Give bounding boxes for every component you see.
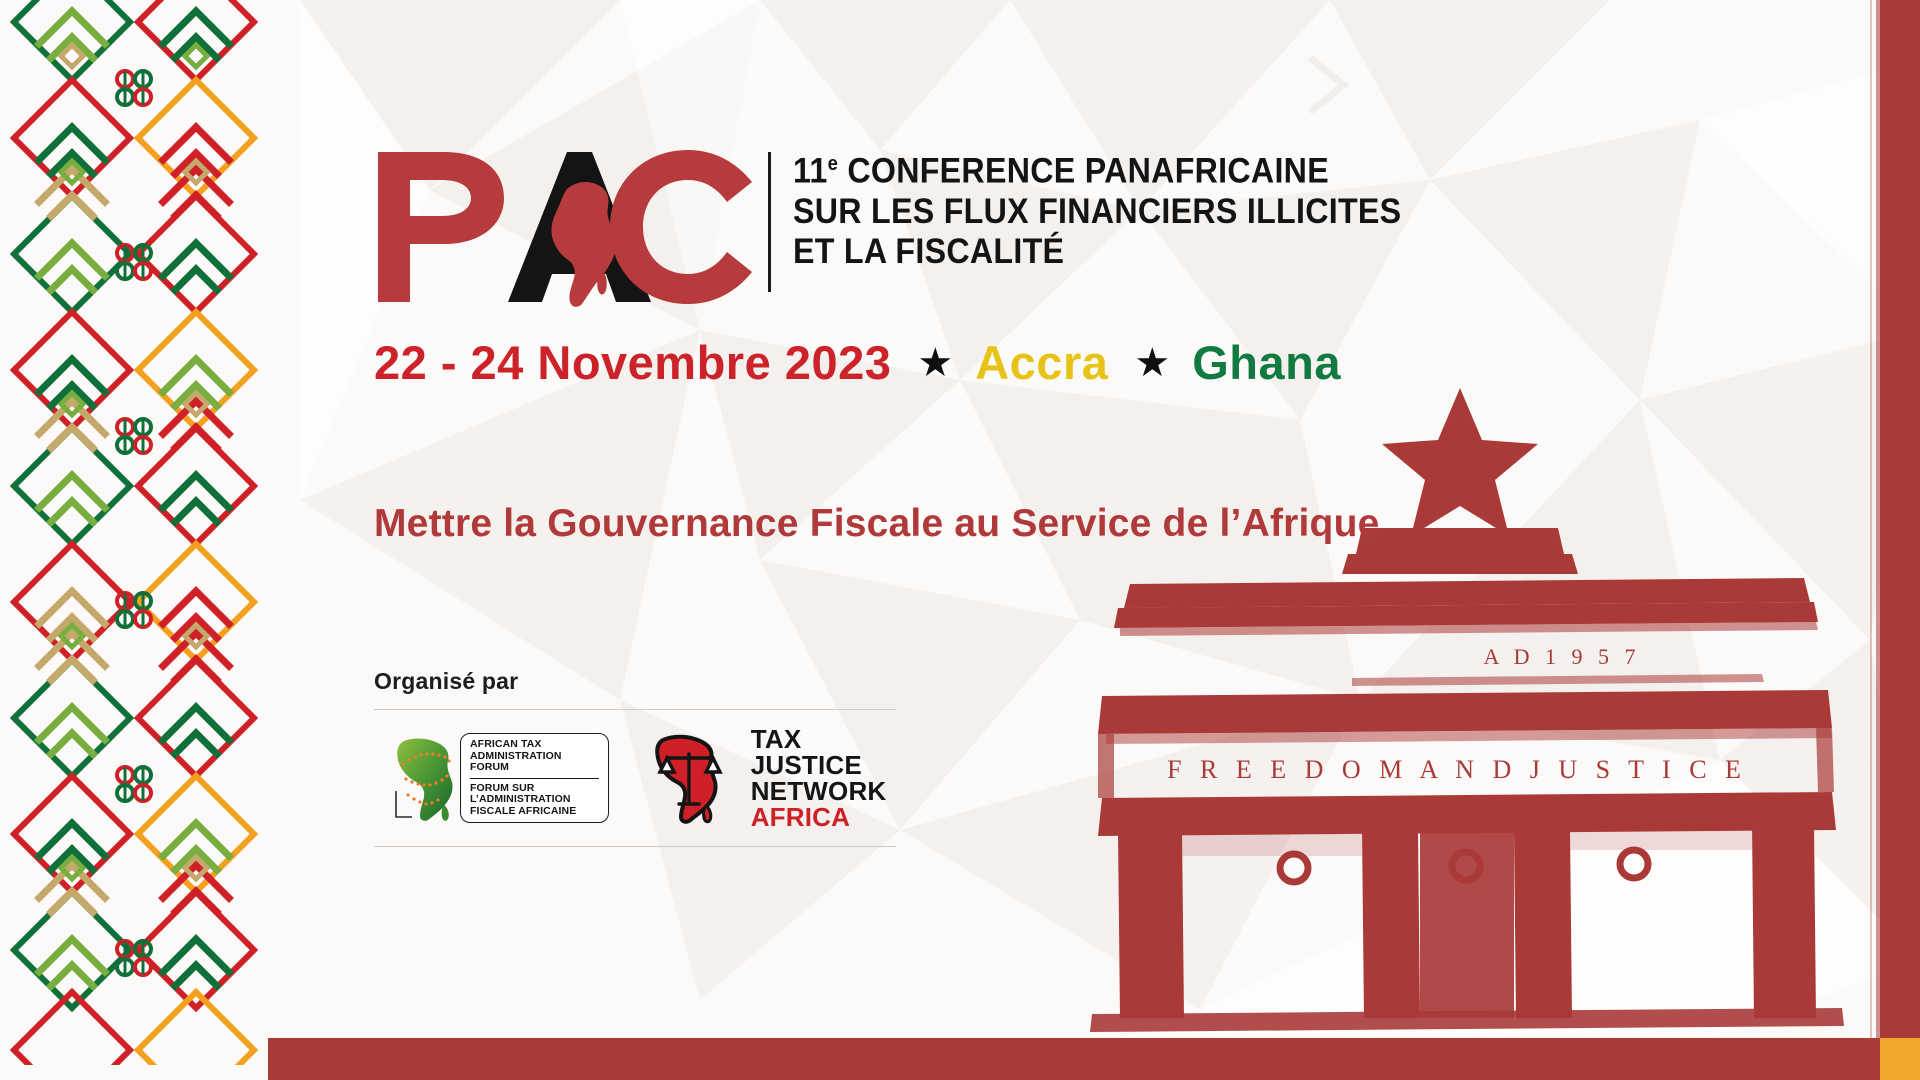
ataf-french-line-2: L’ADMINISTRATION — [470, 794, 599, 806]
conference-title: 11e CONFERENCE PANAFRICAINE SUR LES FLUX… — [793, 144, 1454, 272]
tjna-line-3: AFRICA — [751, 804, 914, 830]
title-line-1-rest: CONFERENCE PANAFRICAINE — [838, 152, 1329, 191]
ataf-english-line-2: ADMINISTRATION FORUM — [470, 751, 599, 774]
ataf-name-divider — [470, 778, 599, 779]
event-city: Accra — [975, 335, 1108, 390]
title-line-3: ET LA FISCALITÉ — [793, 232, 1401, 272]
organisers-divider-bottom — [374, 846, 896, 847]
title-line-1-prefix: 11 — [793, 152, 828, 191]
tjna-logo[interactable]: TAX JUSTICE NETWORK AFRICA — [645, 726, 914, 830]
event-date-location: 22 - 24 Novembre 2023 ★ Accra ★ Ghana — [374, 335, 1341, 390]
star-icon-2: ★ — [1134, 343, 1170, 383]
ataf-africa-map-icon — [386, 735, 464, 821]
organisers-block: Organisé par — [374, 668, 914, 847]
ataf-french-line-3: FISCALE AFRICAINE — [470, 806, 599, 818]
event-dates: 22 - 24 Novembre 2023 — [374, 335, 891, 390]
pac-letter-p — [378, 152, 504, 302]
ataf-english-line-1: AFRICAN TAX — [470, 739, 599, 751]
star-icon-1: ★ — [917, 343, 953, 383]
tjna-africa-scales-icon — [645, 732, 741, 824]
tjna-line-2: NETWORK — [751, 778, 914, 804]
title-line-1: 11e CONFERENCE PANAFRICAINE — [793, 144, 1401, 192]
ataf-logo[interactable]: AFRICAN TAX ADMINISTRATION FORUM FORUM S… — [386, 733, 609, 823]
tjna-line-1: TAX JUSTICE — [751, 726, 914, 778]
ataf-name-box: AFRICAN TAX ADMINISTRATION FORUM FORUM S… — [460, 733, 609, 823]
pac-letter-c — [610, 150, 752, 304]
logo-title-lockup: 11e CONFERENCE PANAFRICAINE SUR LES FLUX… — [370, 138, 1454, 313]
organisers-label: Organisé par — [374, 668, 914, 695]
title-line-2: SUR LES FLUX FINANCIERS ILLICITES — [793, 192, 1401, 232]
organiser-logo-list: AFRICAN TAX ADMINISTRATION FORUM FORUM S… — [374, 710, 914, 830]
pac-logo — [370, 138, 760, 313]
title-ordinal-suffix: e — [828, 153, 839, 175]
event-country: Ghana — [1192, 335, 1341, 390]
conference-poster: A D 1 9 5 7 F R E E D O M A N D J U S T … — [0, 0, 1920, 1080]
title-divider — [768, 152, 771, 292]
conference-theme: Mettre la Gouvernance Fiscale au Service… — [374, 502, 1379, 546]
tjna-wordmark: TAX JUSTICE NETWORK AFRICA — [751, 726, 914, 830]
